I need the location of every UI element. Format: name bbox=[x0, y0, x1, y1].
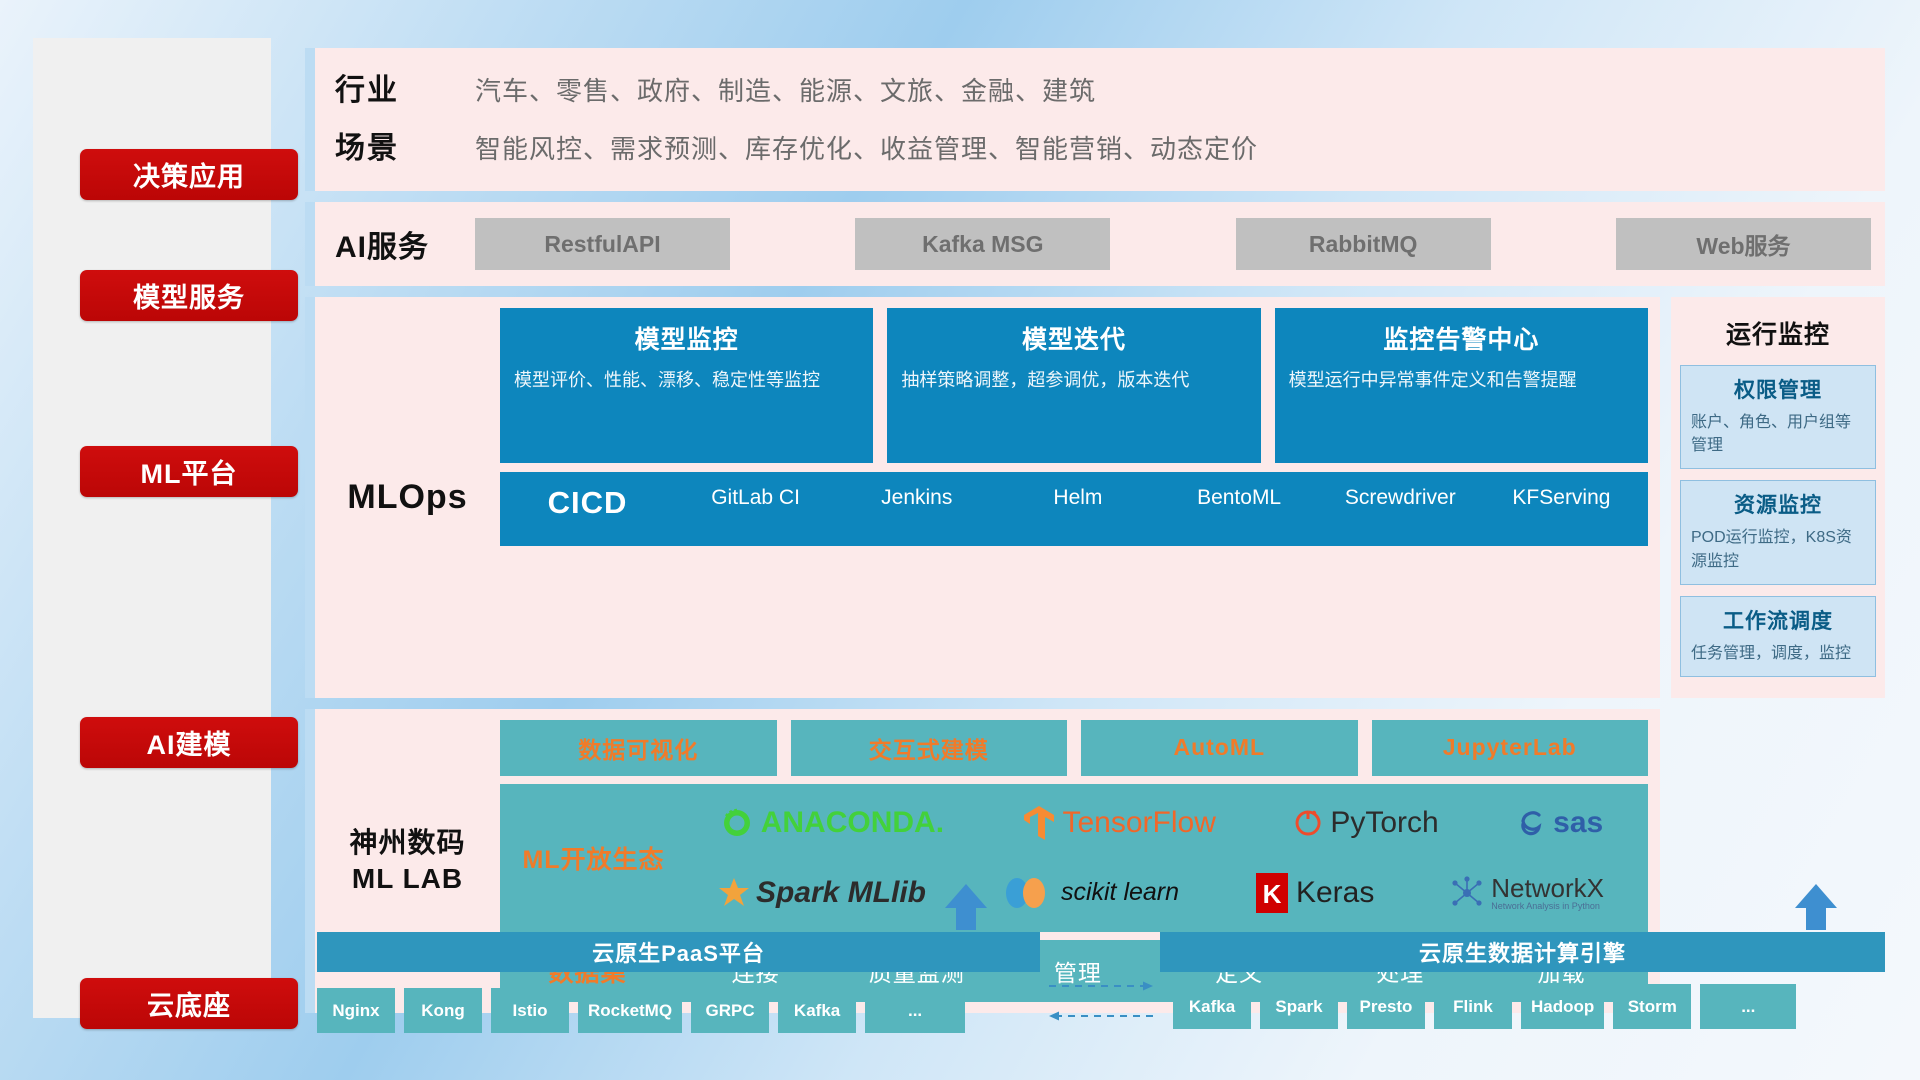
scenario-value: 智能风控、需求预测、库存优化、收益管理、智能营销、动态定价 bbox=[475, 120, 1258, 178]
tensorflow-label: TensorFlow bbox=[1063, 806, 1216, 840]
cicd-bar: CICD GitLab CI Jenkins Helm BentoML Scre… bbox=[500, 472, 1648, 546]
service-box-rabbitmq[interactable]: RabbitMQ bbox=[1236, 218, 1491, 270]
tab-interactive-modeling[interactable]: 交互式建模 bbox=[791, 720, 1068, 776]
paas-chip-kong[interactable]: Kong bbox=[404, 988, 482, 1033]
rail-chip-ml-platform[interactable]: ML平台 bbox=[80, 446, 298, 497]
cicd-items: GitLab CI Jenkins Helm BentoML Screwdriv… bbox=[675, 485, 1642, 511]
mlops-band: MLOps 模型监控 模型评价、性能、漂移、稳定性等监控 模型迭代 抽样策略调整… bbox=[305, 297, 1660, 698]
runtime-monitor-title: 运行监控 bbox=[1680, 315, 1876, 351]
monitor-card-title: 资源监控 bbox=[1691, 489, 1865, 519]
engine-chip-kafka[interactable]: Kafka bbox=[1173, 984, 1251, 1029]
tensorflow-logo: TensorFlow bbox=[1022, 804, 1216, 842]
ai-service-label: AI服务 bbox=[335, 222, 475, 266]
ml-ecosystem-label: ML开放生态 bbox=[506, 840, 681, 876]
pytorch-icon bbox=[1293, 806, 1323, 840]
card-desc: 抽样策略调整，超参调优，版本迭代 bbox=[901, 367, 1246, 393]
ai-service-band: AI服务 RestfulAPI Kafka MSG RabbitMQ Web服务 bbox=[305, 202, 1885, 286]
engine-chip-hadoop[interactable]: Hadoop bbox=[1521, 984, 1604, 1029]
anaconda-label: ANACONDA. bbox=[761, 806, 944, 840]
card-title: 模型监控 bbox=[514, 320, 859, 356]
mlops-card-alert-center[interactable]: 监控告警中心 模型运行中异常事件定义和告警提醒 bbox=[1275, 308, 1648, 463]
engine-chip-presto[interactable]: Presto bbox=[1347, 984, 1425, 1029]
sas-icon bbox=[1516, 808, 1546, 838]
rail-chip-decision[interactable]: 决策应用 bbox=[80, 149, 298, 200]
industry-values: 汽车、零售、政府、制造、能源、文旅、金融、建筑 智能风控、需求预测、库存优化、收… bbox=[475, 62, 1258, 178]
engine-chip-storm[interactable]: Storm bbox=[1613, 984, 1691, 1029]
industry-labels: 行业 场景 bbox=[335, 62, 475, 178]
arrow-stem-engine bbox=[1806, 908, 1826, 930]
left-rail: 决策应用 模型服务 ML平台 AI建模 云底座 bbox=[33, 38, 271, 1018]
mlops-card-model-monitoring[interactable]: 模型监控 模型评价、性能、漂移、稳定性等监控 bbox=[500, 308, 873, 463]
paas-chip-nginx[interactable]: Nginx bbox=[317, 988, 395, 1033]
rail-chip-model-service[interactable]: 模型服务 bbox=[80, 270, 298, 321]
tab-data-visualization[interactable]: 数据可视化 bbox=[500, 720, 777, 776]
tab-jupyterlab[interactable]: JupyterLab bbox=[1372, 720, 1649, 776]
service-box-web[interactable]: Web服务 bbox=[1616, 218, 1871, 270]
cloud-bar-paas[interactable]: 云原生PaaS平台 bbox=[317, 932, 1040, 972]
mlops-row: MLOps 模型监控 模型评价、性能、漂移、稳定性等监控 模型迭代 抽样策略调整… bbox=[305, 297, 1885, 698]
runtime-monitor-column: 运行监控 权限管理 账户、角色、用户组等管理 资源监控 POD运行监控，K8S资… bbox=[1671, 297, 1885, 698]
engine-chip-flink[interactable]: Flink bbox=[1434, 984, 1512, 1029]
mlops-card-model-iteration[interactable]: 模型迭代 抽样策略调整，超参调优，版本迭代 bbox=[887, 308, 1260, 463]
paas-chip-istio[interactable]: Istio bbox=[491, 988, 569, 1033]
mlops-content: 模型监控 模型评价、性能、漂移、稳定性等监控 模型迭代 抽样策略调整，超参调优，… bbox=[500, 308, 1648, 687]
rail-chip-ai-modeling[interactable]: AI建模 bbox=[80, 717, 298, 768]
monitor-card-title: 权限管理 bbox=[1691, 374, 1865, 404]
mlops-cards: 模型监控 模型评价、性能、漂移、稳定性等监控 模型迭代 抽样策略调整，超参调优，… bbox=[500, 308, 1648, 463]
cicd-item-gitlab-ci[interactable]: GitLab CI bbox=[675, 485, 836, 511]
cicd-item-screwdriver[interactable]: Screwdriver bbox=[1320, 485, 1481, 511]
cloud-bar-engine[interactable]: 云原生数据计算引擎 bbox=[1160, 932, 1885, 972]
cicd-item-bentoml[interactable]: BentoML bbox=[1159, 485, 1320, 511]
card-desc: 模型评价、性能、漂移、稳定性等监控 bbox=[514, 367, 859, 393]
rail-chip-cloud-base[interactable]: 云底座 bbox=[80, 978, 298, 1029]
cicd-title: CICD bbox=[500, 485, 675, 521]
cicd-item-helm[interactable]: Helm bbox=[997, 485, 1158, 511]
paas-chip-kafka[interactable]: Kafka bbox=[778, 988, 856, 1033]
anaconda-icon bbox=[720, 806, 754, 840]
paas-chip-row: Nginx Kong Istio RocketMQ GRPC Kafka ... bbox=[317, 988, 965, 1033]
bidirectional-dashed-connector bbox=[1045, 976, 1157, 1028]
architecture-diagram: 决策应用 模型服务 ML平台 AI建模 云底座 行业 场景 汽车、零售、政府、制… bbox=[0, 0, 1920, 1080]
monitor-card-desc: 账户、角色、用户组等管理 bbox=[1691, 411, 1865, 457]
monitor-card-permissions[interactable]: 权限管理 账户、角色、用户组等管理 bbox=[1680, 365, 1876, 469]
paas-chip-more[interactable]: ... bbox=[865, 988, 965, 1033]
monitor-card-workflow[interactable]: 工作流调度 任务管理，调度，监控 bbox=[1680, 596, 1876, 677]
industry-value: 汽车、零售、政府、制造、能源、文旅、金融、建筑 bbox=[475, 62, 1258, 120]
scenario-label: 场景 bbox=[335, 120, 475, 178]
service-box-restfulapi[interactable]: RestfulAPI bbox=[475, 218, 730, 270]
sas-logo: sas bbox=[1516, 806, 1603, 840]
paas-chip-grpc[interactable]: GRPC bbox=[691, 988, 769, 1033]
mllab-tabs: 数据可视化 交互式建模 AutoML JupyterLab bbox=[500, 720, 1648, 776]
ai-service-items: RestfulAPI Kafka MSG RabbitMQ Web服务 bbox=[475, 218, 1885, 270]
sas-label: sas bbox=[1553, 806, 1603, 840]
monitor-card-desc: 任务管理，调度，监控 bbox=[1691, 642, 1865, 665]
engine-chip-row: Kafka Spark Presto Flink Hadoop Storm ..… bbox=[1173, 984, 1796, 1029]
paas-chip-rocketmq[interactable]: RocketMQ bbox=[578, 988, 682, 1033]
mlops-label: MLOps bbox=[315, 308, 500, 687]
pytorch-logo: PyTorch bbox=[1293, 806, 1438, 840]
mllab-label-line1: 神州数码 bbox=[349, 825, 465, 861]
industry-label: 行业 bbox=[335, 62, 475, 120]
arrow-up-paas bbox=[945, 884, 987, 908]
monitor-card-resources[interactable]: 资源监控 POD运行监控，K8S资源监控 bbox=[1680, 480, 1876, 584]
engine-chip-more[interactable]: ... bbox=[1700, 984, 1796, 1029]
engine-chip-spark[interactable]: Spark bbox=[1260, 984, 1338, 1029]
card-title: 监控告警中心 bbox=[1289, 320, 1634, 356]
logo-line-1: ANACONDA. TensorFlow bbox=[681, 789, 1642, 857]
arrow-up-engine bbox=[1795, 884, 1837, 908]
monitor-card-desc: POD运行监控，K8S资源监控 bbox=[1691, 526, 1865, 572]
tensorflow-icon bbox=[1022, 804, 1056, 842]
monitor-card-title: 工作流调度 bbox=[1691, 605, 1865, 635]
content-column: 行业 场景 汽车、零售、政府、制造、能源、文旅、金融、建筑 智能风控、需求预测、… bbox=[305, 48, 1885, 1013]
cicd-item-jenkins[interactable]: Jenkins bbox=[836, 485, 997, 511]
anaconda-logo: ANACONDA. bbox=[720, 806, 944, 840]
pytorch-label: PyTorch bbox=[1330, 806, 1438, 840]
cloud-foundation-zone: 云原生PaaS平台 云原生数据计算引擎 Nginx Kong Istio Roc… bbox=[305, 884, 1885, 1044]
service-box-kafka-msg[interactable]: Kafka MSG bbox=[855, 218, 1110, 270]
cicd-item-kfserving[interactable]: KFServing bbox=[1481, 485, 1642, 511]
industry-scenario-band: 行业 场景 汽车、零售、政府、制造、能源、文旅、金融、建筑 智能风控、需求预测、… bbox=[305, 48, 1885, 191]
card-title: 模型迭代 bbox=[901, 320, 1246, 356]
arrow-stem-paas bbox=[956, 908, 976, 930]
card-desc: 模型运行中异常事件定义和告警提醒 bbox=[1289, 367, 1634, 393]
tab-automl[interactable]: AutoML bbox=[1081, 720, 1358, 776]
